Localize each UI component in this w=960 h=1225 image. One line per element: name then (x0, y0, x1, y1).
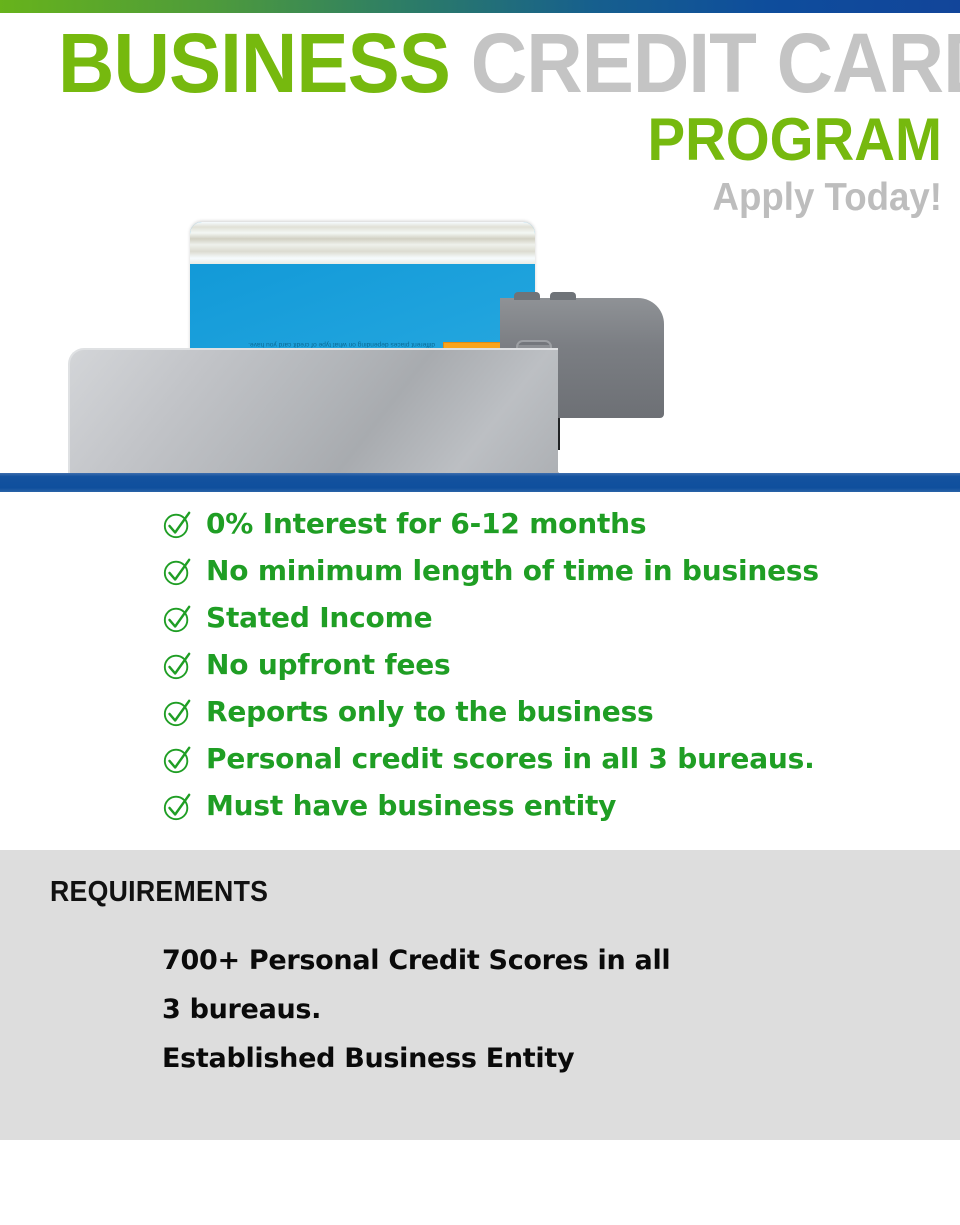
card-reader-front-panel (68, 348, 558, 475)
list-item-label: Personal credit scores in all 3 bureaus. (206, 742, 815, 775)
list-item: Reports only to the business (162, 688, 960, 735)
requirements-line: Established Business Entity (162, 1034, 862, 1083)
hero-illustration: AUTHORIZED SIGNATURE For 24-hour service… (0, 210, 960, 475)
check-circle-icon (162, 510, 192, 540)
list-item-label: Reports only to the business (206, 695, 654, 728)
card-magnetic-stripe (190, 222, 535, 264)
list-item: No minimum length of time in business (162, 547, 960, 594)
list-item-label: No upfront fees (206, 648, 451, 681)
requirements-line: 3 bureaus. (162, 985, 862, 1034)
requirements-body: 700+ Personal Credit Scores in all 3 bur… (162, 936, 862, 1083)
check-circle-icon (162, 698, 192, 728)
page-title: BUSINESS CREDIT CARD PROGRAM Apply Today… (0, 22, 960, 217)
requirements-line: 700+ Personal Credit Scores in all (162, 936, 862, 985)
check-circle-icon (162, 792, 192, 822)
headline-business-word: BUSINESS (58, 16, 471, 110)
requirements-panel: REQUIREMENTS 700+ Personal Credit Scores… (0, 850, 960, 1140)
list-item-label: Must have business entity (206, 789, 616, 822)
requirements-heading: REQUIREMENTS (50, 876, 268, 909)
list-item: Must have business entity (162, 782, 960, 829)
list-item-label: No minimum length of time in business (206, 554, 819, 587)
headline-program-word: PROGRAM (111, 110, 942, 170)
list-item: No upfront fees (162, 641, 960, 688)
check-circle-icon (162, 557, 192, 587)
check-circle-icon (162, 745, 192, 775)
list-item-label: Stated Income (206, 601, 432, 634)
benefits-list: 0% Interest for 6-12 months No minimum l… (0, 500, 960, 829)
list-item: Stated Income (162, 594, 960, 641)
blue-separator-bar (0, 473, 960, 492)
check-circle-icon (162, 651, 192, 681)
flyer-page: BUSINESS CREDIT CARD PROGRAM Apply Today… (0, 0, 960, 1225)
bottom-white-margin (0, 1140, 960, 1225)
list-item: 0% Interest for 6-12 months (162, 500, 960, 547)
headline-line-1: BUSINESS CREDIT CARD (58, 22, 880, 104)
top-gradient-bar (0, 0, 960, 13)
headline-credit-card-words: CREDIT CARD (471, 16, 960, 110)
list-item-label: 0% Interest for 6-12 months (206, 507, 646, 540)
list-item: Personal credit scores in all 3 bureaus. (162, 735, 960, 782)
check-circle-icon (162, 604, 192, 634)
